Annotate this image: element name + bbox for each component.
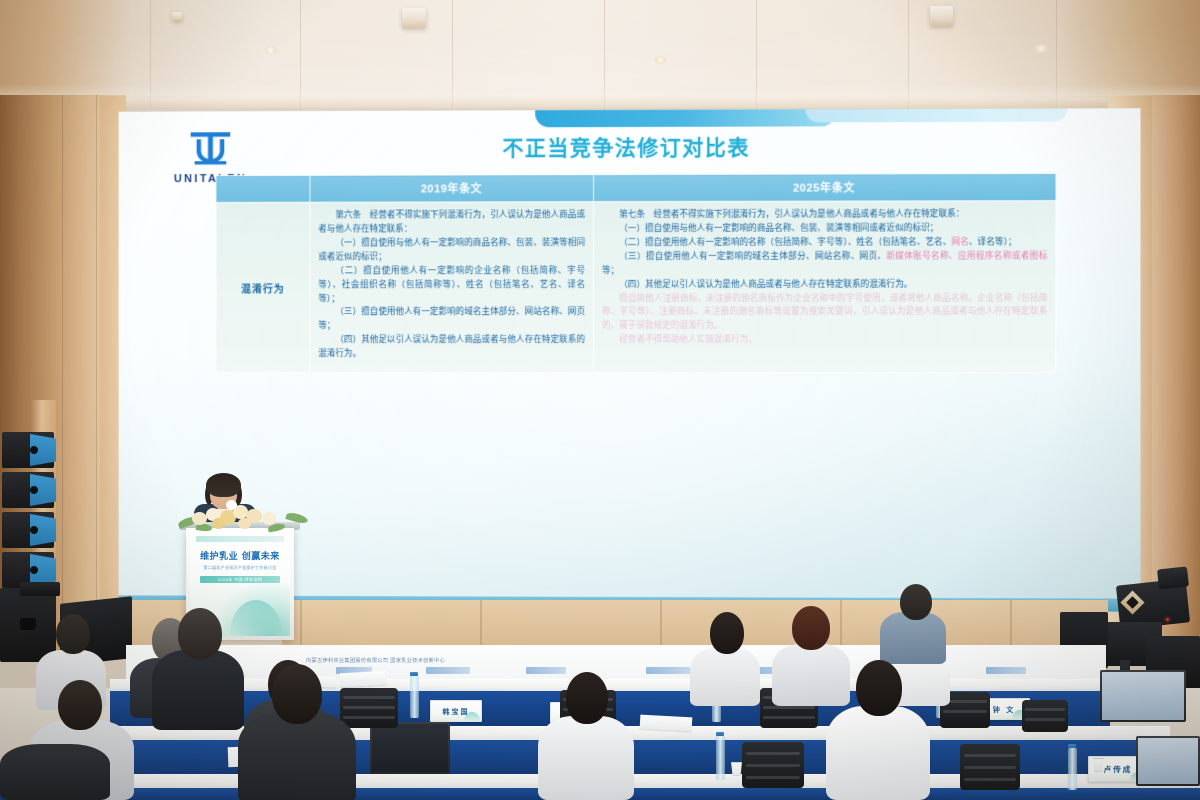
- table-header-2025: 2025年条文: [594, 173, 1056, 201]
- camera-record-led: [1166, 618, 1169, 621]
- ceiling-fixture: [402, 8, 426, 28]
- p-2025-1: （一）擅自使用与他人有一定影响的商品名称、包装、装潢等相同或者近似的标识；: [602, 222, 1047, 237]
- slide-ribbon-decor-light: [805, 108, 1067, 122]
- p-2025-5-faded: 擅自将他人注册商标、未注册的驰名商标作为企业名称中的字号使用，或者将他人商品名称…: [602, 292, 1047, 334]
- highlighted-term: 新媒体账号名称、应用程序名称或者图标: [886, 251, 1047, 261]
- p-2019-3: （三）擅自使用他人有一定影响的域名主体部分、网站名称、网页等；: [318, 306, 585, 334]
- chair: [1022, 700, 1068, 732]
- podium-banner-subtitle: 第二届乳产业知识产权保护工作研讨会: [190, 565, 290, 571]
- p-2019-2: （二）擅自使用他人有一定影响的企业名称（包括简称、字号等）、社会组织名称（包括简…: [318, 265, 585, 307]
- podium-banner-title: 维护乳业 创赢未来: [190, 549, 290, 562]
- document-paper: [340, 671, 387, 687]
- table-row: 混淆行为 第六条 经营者不得实施下列混淆行为，引人误认为是他人商品或者与他人存在…: [216, 201, 1056, 373]
- slide-ribbon-decor: [535, 109, 835, 127]
- table-header-blank: [216, 175, 310, 202]
- ceiling-fixture: [172, 12, 182, 21]
- comparison-table: 2019年条文 2025年条文 混淆行为 第六条 经营者不得实施下列混淆行为，引…: [215, 173, 1056, 373]
- bottle-cap: [716, 732, 724, 736]
- laptop: [1100, 670, 1186, 722]
- p-2025-2: （二）擅自使用他人有一定影响的名称（包括简称、字号等）、姓名（包括笔名、艺名、网…: [602, 236, 1047, 251]
- water-bottle: [410, 676, 419, 718]
- table-header-2019: 2019年条文: [310, 175, 594, 203]
- row-label-confusion: 混淆行为: [216, 202, 310, 372]
- water-bottle: [716, 736, 725, 780]
- presenter-hair: [206, 473, 241, 497]
- p-2019-0: 第六条 经营者不得实施下列混淆行为，引人误认为是他人商品或者与他人存在特定联系：: [318, 209, 585, 237]
- p-2025-3: （三）擅自使用他人有一定影响的域名主体部分、网站名称、网页、新媒体账号名称、应用…: [602, 250, 1047, 279]
- p-2025-4: （四）其他足以引人误认为是他人商品或者与他人存在特定联系的混淆行为。: [602, 278, 1047, 292]
- podium-flowers: [176, 500, 308, 536]
- backdrop-banner-text: 内蒙古伊利实业集团股份有限公司 国家乳业技术创新中心: [306, 657, 445, 664]
- cell-2019-text: 第六条 经营者不得实施下列混淆行为，引人误认为是他人商品或者与他人存在特定联系：…: [310, 202, 594, 373]
- bottle-cap: [410, 672, 418, 676]
- table-header-row: 2019年条文 2025年条文: [216, 173, 1056, 202]
- water-bottle: [1068, 748, 1077, 790]
- p-2025-3-text: （三）擅自使用他人有一定影响的域名主体部分、网站名称、网页、新媒体账号名称、应用…: [602, 251, 1047, 276]
- conference-hall-photo: UNITALEN 不正当竞争法修订对比表 2019年条文 2025年条文 混淆行…: [0, 0, 1200, 800]
- p-2025-0: 第七条 经营者不得实施下列混淆行为，引人误认为是他人商品或者与他人存在特定联系：: [602, 208, 1047, 223]
- downlight: [264, 46, 277, 54]
- chair: [340, 688, 398, 728]
- p-2019-4: （四）其他足以引人误认为是他人商品或者与他人存在特定联系的混淆行为。: [318, 334, 585, 362]
- bottle-cap: [1068, 744, 1076, 748]
- laptop: [1136, 736, 1200, 786]
- chair: [742, 742, 804, 788]
- ceiling-fixture: [930, 6, 953, 26]
- highlighted-term: 网名: [951, 237, 968, 247]
- chair: [960, 744, 1020, 790]
- laptop: [370, 722, 450, 774]
- document-paper: [640, 715, 693, 732]
- p-2019-1: （一）擅自使用与他人有一定影响的商品名称、包装、装潢等相同或者近似的标识；: [318, 237, 585, 265]
- p-2025-2-text: （二）擅自使用他人有一定影响的名称（包括简称、字号等）、姓名（包括笔名、艺名、网…: [619, 237, 1016, 248]
- downlight: [654, 56, 667, 64]
- slide-title: 不正当竞争法修订对比表: [119, 130, 1141, 163]
- downlight: [1034, 44, 1048, 53]
- p-2025-6-faded: 经营者不得帮助他人实施混淆行为。: [602, 334, 1047, 348]
- cell-2025-text: 第七条 经营者不得实施下列混淆行为，引人误认为是他人商品或者与他人存在特定联系：…: [594, 201, 1056, 373]
- name-card: 韩宝国: [430, 700, 482, 722]
